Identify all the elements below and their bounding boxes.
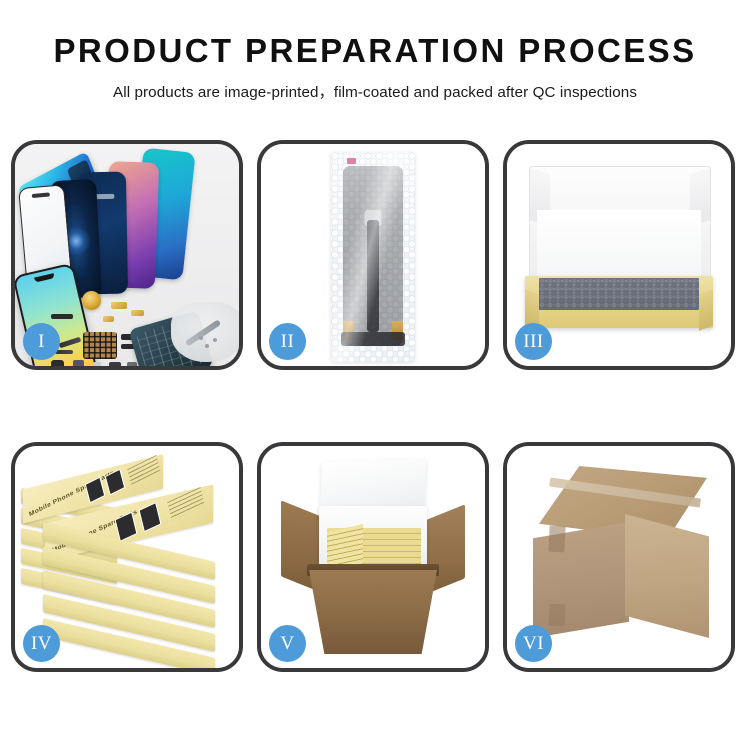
tray-corner-right — [699, 289, 713, 331]
process-step-2: II — [257, 140, 489, 370]
step-badge-3: III — [515, 323, 552, 360]
process-step-1: I — [11, 140, 243, 370]
part-button-icon — [109, 362, 121, 366]
speaker-coil-icon — [82, 291, 101, 310]
step-2-image: II — [261, 144, 485, 366]
part-connector-grid-icon — [83, 332, 117, 359]
step-3-image: III — [507, 144, 731, 366]
pink-label-icon — [347, 158, 356, 164]
step-badge-5: V — [269, 625, 306, 662]
step-1-image: I — [15, 144, 239, 366]
carton-front-face — [533, 522, 629, 638]
step-5-image: V — [261, 446, 485, 668]
process-step-6: VI — [503, 442, 735, 672]
carton-body — [309, 570, 437, 654]
step-badge-6: VI — [515, 625, 552, 662]
step-badge-4: IV — [23, 625, 60, 662]
part-sim-tray-icon — [93, 362, 101, 366]
process-step-4: Mobile Phone Spare Parts Mobile Phone Sp… — [11, 442, 243, 672]
part-gold-flex-icon — [111, 302, 127, 309]
product-preparation-infographic: PRODUCT PREPARATION PROCESS All products… — [0, 0, 750, 750]
part-earpiece-icon — [51, 314, 73, 319]
step-badge-1: I — [23, 323, 60, 360]
carton-tape-patch-bottom — [548, 604, 565, 627]
bubble-wrap-bag-icon — [331, 152, 415, 362]
part-gold-tab-icon — [103, 316, 114, 322]
page-title: PRODUCT PREPARATION PROCESS — [0, 34, 750, 69]
screw-3-icon — [199, 336, 203, 340]
stacked-retail-boxes-icon: Mobile Phone Spare Parts Mobile Phone Sp… — [21, 464, 233, 654]
gray-bubble-wrap-icon — [539, 278, 699, 310]
screen-base-icon — [341, 332, 405, 346]
process-step-5: V — [257, 442, 489, 672]
open-carton-icon — [287, 464, 459, 654]
part-flex-cable-2-icon — [55, 350, 73, 354]
header: PRODUCT PREPARATION PROCESS All products… — [0, 0, 750, 102]
part-camera-icon — [51, 360, 64, 366]
yellow-tray-icon — [525, 276, 713, 328]
carton-side-face — [625, 514, 709, 638]
screw-icon — [205, 344, 209, 348]
step-badge-2: II — [269, 323, 306, 360]
flex-ribbon-icon — [367, 220, 379, 332]
step-6-image: VI — [507, 446, 731, 668]
page-subtitle: All products are image-printed，film-coat… — [0, 80, 750, 102]
carton-tape-patch-top — [548, 526, 565, 553]
part-vibrator-icon — [73, 360, 84, 366]
white-foam-icon — [537, 210, 701, 282]
process-step-grid: I II — [11, 140, 739, 672]
process-step-3: III — [503, 140, 735, 370]
part-sensor-icon — [127, 362, 137, 366]
screw-2-icon — [213, 338, 217, 342]
sealed-carton-icon — [525, 466, 715, 648]
step-4-image: Mobile Phone Spare Parts Mobile Phone Sp… — [15, 446, 239, 668]
open-inner-box-icon — [523, 166, 715, 338]
part-gold-small-icon — [131, 310, 144, 316]
